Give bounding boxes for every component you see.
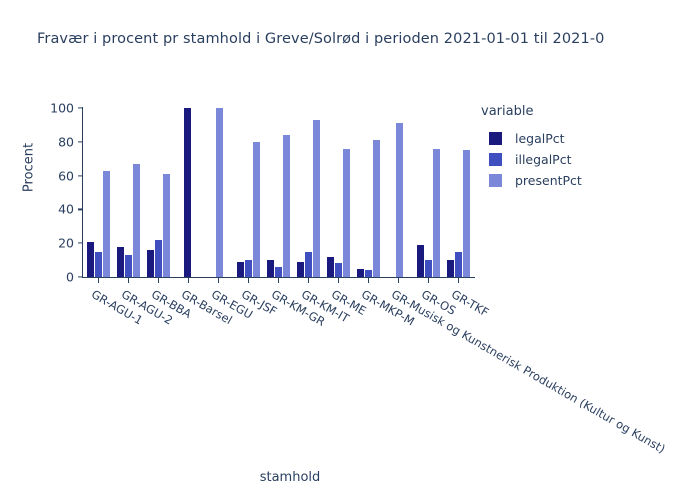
bar-group (203, 108, 233, 277)
bar-group (233, 108, 263, 277)
bar-legalPct[interactable] (117, 247, 124, 277)
bar-legalPct[interactable] (417, 245, 424, 277)
legend-label-illegalPct: illegalPct (515, 152, 572, 167)
bar-presentPct[interactable] (103, 171, 110, 277)
x-tick-mark (308, 277, 309, 283)
bar-legalPct[interactable] (87, 242, 94, 277)
bar-group (323, 108, 353, 277)
bar-group (353, 108, 383, 277)
bar-legalPct[interactable] (447, 260, 454, 277)
bar-illegalPct[interactable] (95, 252, 102, 277)
bar-illegalPct[interactable] (335, 263, 342, 277)
x-axis-title: stamhold (0, 470, 580, 485)
legend-item-illegalPct[interactable]: illegalPct (489, 149, 582, 170)
bar-group (413, 108, 443, 277)
legend-label-presentPct: presentPct (515, 173, 582, 188)
bar-presentPct[interactable] (396, 123, 403, 277)
bar-group (443, 108, 473, 277)
bar-legalPct[interactable] (267, 260, 274, 277)
legend-label-legalPct: legalPct (515, 131, 565, 146)
bar-legalPct[interactable] (184, 108, 191, 277)
x-tick-mark (428, 277, 429, 283)
bar-presentPct[interactable] (463, 150, 470, 277)
x-tick-mark (398, 277, 399, 283)
x-tick-mark (248, 277, 249, 283)
x-tick-mark (458, 277, 459, 283)
bar-presentPct[interactable] (433, 149, 440, 277)
x-tick-mark (278, 277, 279, 283)
legend-swatch-legalPct (489, 132, 502, 145)
bar-legalPct[interactable] (357, 269, 364, 277)
bar-group (173, 108, 203, 277)
bar-illegalPct[interactable] (155, 240, 162, 277)
bar-chart: Fravær i procent pr stamhold i Greve/Sol… (0, 0, 700, 500)
bar-legalPct[interactable] (237, 262, 244, 277)
legend-item-presentPct[interactable]: presentPct (489, 170, 582, 191)
legend-swatch-illegalPct (489, 153, 502, 166)
x-tick-mark (188, 277, 189, 283)
y-tick-mark (78, 107, 83, 108)
bar-legalPct[interactable] (147, 250, 154, 277)
y-axis-title: Procent (22, 123, 37, 213)
legend: variable legalPctillegalPctpresentPct (481, 104, 582, 191)
bar-group (293, 108, 323, 277)
y-tick-mark (78, 243, 83, 244)
x-tick-mark (368, 277, 369, 283)
x-tick-mark (128, 277, 129, 283)
bar-presentPct[interactable] (313, 120, 320, 277)
x-tick-mark (338, 277, 339, 283)
bar-illegalPct[interactable] (275, 267, 282, 277)
bar-group (263, 108, 293, 277)
x-tick-mark (98, 277, 99, 283)
bar-group (113, 108, 143, 277)
bar-illegalPct[interactable] (245, 260, 252, 277)
bar-illegalPct[interactable] (425, 260, 432, 277)
y-tick-mark (78, 209, 83, 210)
bar-presentPct[interactable] (216, 108, 223, 277)
bar-presentPct[interactable] (373, 140, 380, 277)
bar-illegalPct[interactable] (365, 270, 372, 277)
y-tick-mark (78, 276, 83, 277)
chart-title: Fravær i procent pr stamhold i Greve/Sol… (37, 31, 605, 47)
x-tick-label: GR-TKF (449, 287, 491, 319)
bar-presentPct[interactable] (283, 135, 290, 277)
bar-legalPct[interactable] (297, 262, 304, 277)
y-tick-mark (78, 141, 83, 142)
bar-illegalPct[interactable] (125, 255, 132, 277)
x-tick-mark (218, 277, 219, 283)
legend-title: variable (481, 104, 582, 119)
y-tick-mark (78, 175, 83, 176)
bar-presentPct[interactable] (343, 149, 350, 277)
bar-group (143, 108, 173, 277)
bar-group (83, 108, 113, 277)
bar-illegalPct[interactable] (455, 252, 462, 277)
plot-area (83, 108, 473, 277)
x-tick-mark (158, 277, 159, 283)
legend-swatch-presentPct (489, 174, 502, 187)
legend-item-legalPct[interactable]: legalPct (489, 128, 582, 149)
bar-legalPct[interactable] (327, 257, 334, 277)
bar-illegalPct[interactable] (305, 252, 312, 277)
x-tick-label: GR-Musisk og Kunstnerisk Produktion (Kul… (389, 287, 668, 456)
bar-group (383, 108, 413, 277)
bar-presentPct[interactable] (163, 174, 170, 277)
bar-presentPct[interactable] (253, 142, 260, 277)
bar-presentPct[interactable] (133, 164, 140, 277)
